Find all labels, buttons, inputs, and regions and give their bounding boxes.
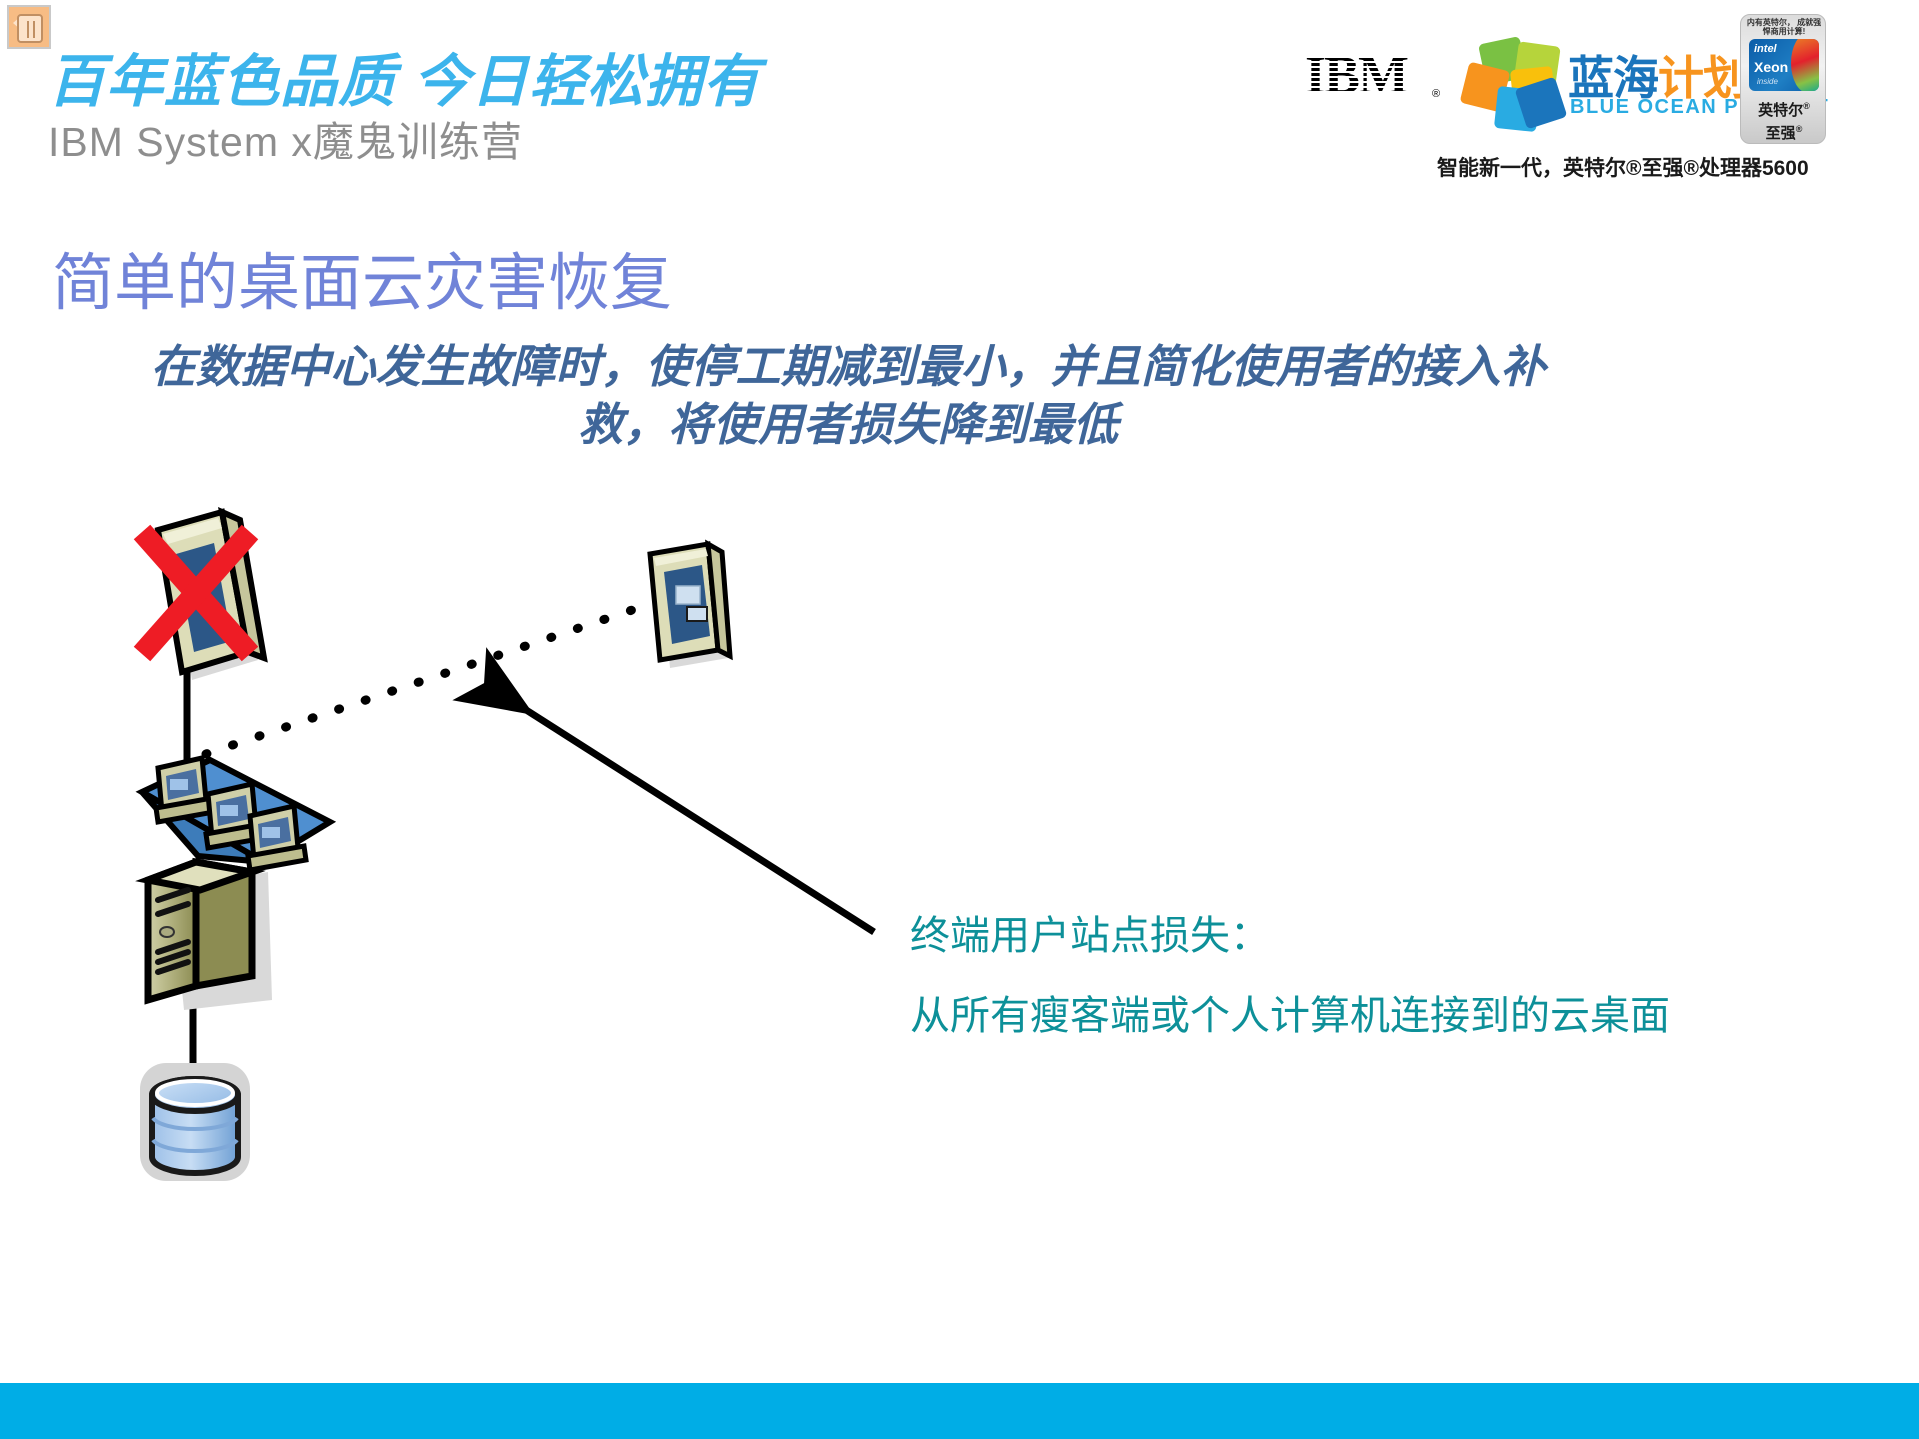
intel-xeon-badge: 内有英特尔， 成就强悍商用计算! intel Xeon inside 英特尔®至… <box>1740 14 1826 144</box>
page-title: 简单的桌面云灾害恢复 <box>52 232 672 322</box>
callout-text-line2: 从所有瘦客端或个人计算机连接到的云桌面 <box>910 983 1670 1041</box>
ibm-logo-text: IBM <box>1305 48 1430 102</box>
banner-subtitle: IBM System x魔鬼训练营 <box>48 108 523 168</box>
page-subtitle: 在数据中心发生故障时，使停工期减到最小，并且简化使用者的接入补救，将使用者损失降… <box>118 338 1578 454</box>
storage-database-icon <box>140 1063 250 1181</box>
ibm-logo: IBM <box>1305 48 1430 102</box>
intel-brand-line2: Xeon <box>1754 59 1788 75</box>
note-comment-icon[interactable] <box>7 5 51 49</box>
intel-brand-line3: inside <box>1757 77 1778 86</box>
red-x-mark-icon <box>142 532 250 654</box>
failed-datacenter-monitor-icon <box>158 512 264 680</box>
banner-title: 百年蓝色品质 今日轻松拥有 <box>48 36 761 118</box>
intel-swirl-icon <box>1791 39 1819 91</box>
server-tower-icon <box>148 862 272 1010</box>
architecture-diagram <box>0 0 1919 1439</box>
intel-badge-top-caption: 内有英特尔， 成就强悍商用计算! <box>1745 18 1823 36</box>
recovery-monitor-icon <box>650 544 730 668</box>
slide-canvas: 百年蓝色品质 今日轻松拥有 IBM System x魔鬼训练营 IBM ® 蓝海… <box>0 0 1919 1439</box>
callout-text-line1: 终端用户站点损失： <box>910 903 1270 961</box>
note-page <box>17 14 43 43</box>
intel-brand-line1: intel <box>1754 43 1777 55</box>
thin-client-cluster-icon <box>142 758 330 870</box>
intel-chip-icon: intel Xeon inside <box>1749 39 1819 91</box>
intel-processor-caption: 智能新一代，英特尔®至强®处理器5600 <box>1437 152 1809 182</box>
ibm-registered-icon: ® <box>1432 88 1440 100</box>
callout-arrow <box>487 685 874 932</box>
intel-badge-bottom-caption: 英特尔®至强® <box>1741 97 1827 143</box>
footer-bar <box>0 1383 1919 1439</box>
connector-cluster-to-recovery-monitor <box>206 608 638 754</box>
blue-ocean-project-logo: 蓝海计划 BLUE OCEAN PROJECT <box>1460 38 1720 128</box>
